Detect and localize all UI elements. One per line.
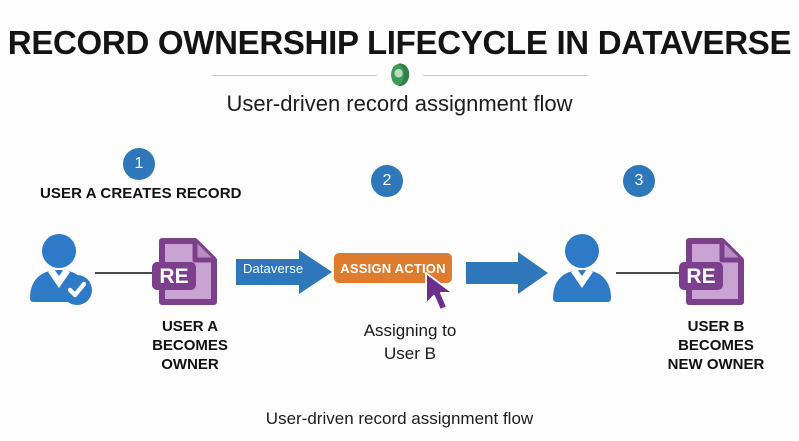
caption-assigning: Assigning to User B <box>320 319 500 365</box>
caption-user-a: USER A BECOMES OWNER <box>126 317 254 374</box>
caption-user-a-line-2: BECOMES <box>126 336 254 355</box>
record-document-icon-a: RE <box>150 236 222 308</box>
record-document-icon-b: RE <box>677 236 749 308</box>
connector-line-b <box>616 272 680 274</box>
caption-assigning-line-2: User B <box>320 342 500 365</box>
caption-user-b-line-3: NEW OWNER <box>645 355 787 374</box>
record-label-a: RE <box>159 265 188 288</box>
dataverse-arrow-label: Dataverse <box>243 261 303 276</box>
connector-line-a <box>95 272 157 274</box>
caption-user-a-line-3: OWNER <box>126 355 254 374</box>
caption-user-b-line-2: BECOMES <box>645 336 787 355</box>
user-avatar-icon-b <box>547 232 621 306</box>
caption-user-a-line-1: USER A <box>126 317 254 336</box>
mouse-pointer-icon <box>424 272 458 312</box>
caption-user-b-line-1: USER B <box>645 317 787 336</box>
caption-assigning-line-1: Assigning to <box>320 319 500 342</box>
transfer-right-arrow-icon <box>466 252 550 294</box>
flow-diagram: RE Dataverse ASSIGN ACTION <box>0 0 799 441</box>
user-avatar-with-check-icon <box>26 232 100 306</box>
record-label-b: RE <box>686 265 715 288</box>
caption-user-b: USER B BECOMES NEW OWNER <box>645 317 787 374</box>
footer-note: User-driven record assignment flow <box>0 409 799 429</box>
slide-canvas: RECORD OWNERSHIP LIFECYCLE IN DATAVERSE … <box>0 0 799 441</box>
